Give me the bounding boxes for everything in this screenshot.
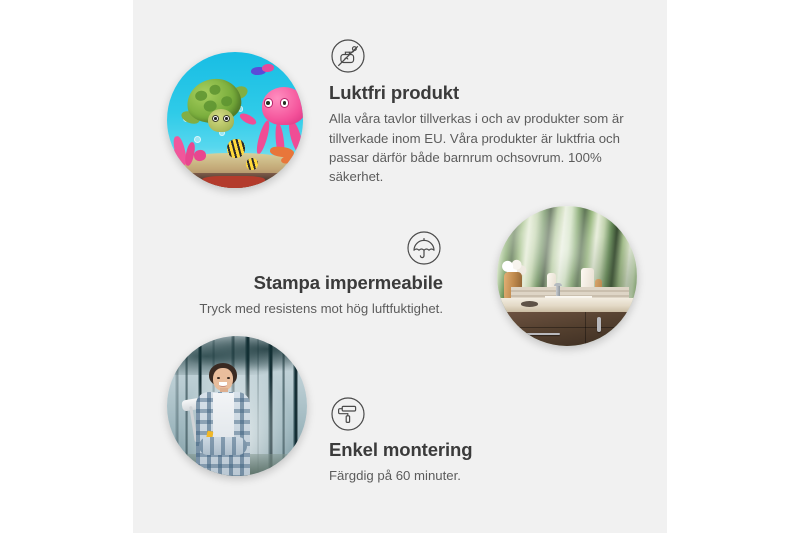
bathroom-scene xyxy=(497,206,637,346)
mural-base-accent xyxy=(202,176,265,188)
octopus-eye xyxy=(264,98,274,108)
cabinet-handle xyxy=(597,317,601,332)
turtle-head xyxy=(208,109,234,132)
drawer-handle xyxy=(523,333,560,334)
feature-description: Tryck med resistens mot hög luftfuktighe… xyxy=(143,299,443,318)
soap-dish xyxy=(521,301,538,307)
person-crossed-arms xyxy=(199,437,247,455)
forest-scene xyxy=(167,336,307,476)
underwater-scene xyxy=(167,52,303,188)
bubble-icon xyxy=(194,136,201,143)
feature-text-waterproof: Stampa impermeabile Tryck med resistens … xyxy=(143,230,443,319)
feature-title: Luktfri produkt xyxy=(329,81,625,104)
fish-icon xyxy=(227,139,245,158)
vanity-cabinet xyxy=(503,312,637,346)
feature-title: Enkel montering xyxy=(329,438,609,461)
umbrella-icon xyxy=(406,230,442,266)
countertop xyxy=(497,298,637,312)
bathroom-vanity-green-foliage-mural-circle xyxy=(497,206,637,346)
underwater-cartoon-mural-circle xyxy=(167,52,303,188)
feature-text-odourless: Luktfri produkt Alla våra tavlor tillver… xyxy=(329,38,625,187)
paint-roller-icon xyxy=(330,396,366,432)
feature-text-easy-install: Enkel montering Färgdig på 60 minuter. xyxy=(329,396,609,486)
promo-infographic: Luktfri produkt Alla våra tavlor tillver… xyxy=(0,0,800,533)
woman-with-paint-roller-forest-mural-circle xyxy=(167,336,307,476)
feature-description: Färgdig på 60 minuter. xyxy=(329,466,609,485)
octopus-eye xyxy=(280,98,290,108)
content-panel: Luktfri produkt Alla våra tavlor tillver… xyxy=(133,0,667,533)
no-fragrance-icon xyxy=(330,38,366,74)
feature-description: Alla våra tavlor tillverkas i och av pro… xyxy=(329,109,625,187)
person-smile xyxy=(219,382,227,387)
feature-title: Stampa impermeabile xyxy=(143,271,443,294)
